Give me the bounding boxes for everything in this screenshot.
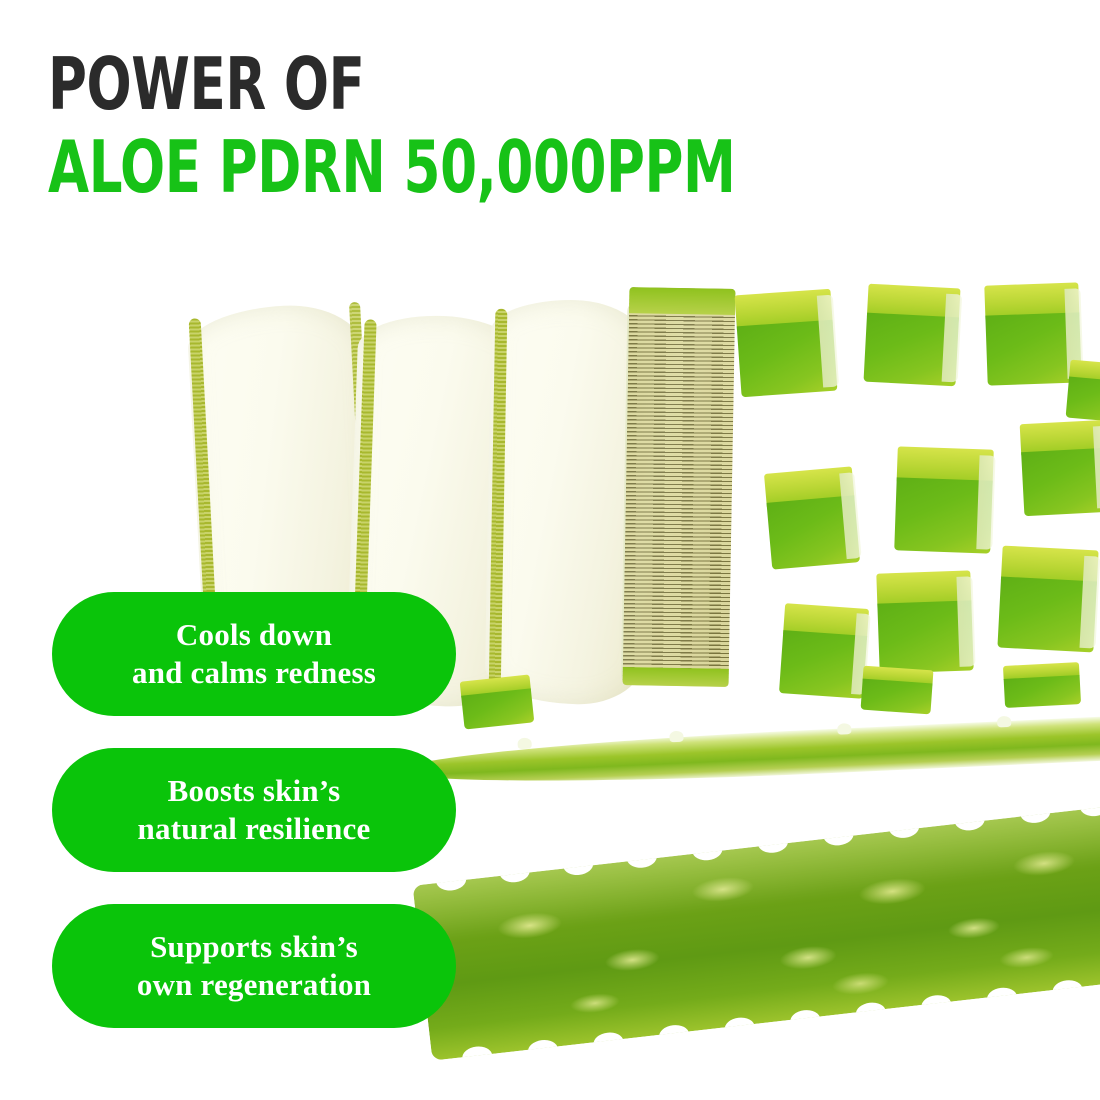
cube-front-face	[1066, 377, 1100, 423]
cube-front-face	[1004, 675, 1081, 708]
feature-pill-line-2: and calms redness	[132, 654, 376, 692]
slab-fiber-stripes	[623, 287, 736, 687]
slab-green-cap	[629, 287, 735, 315]
feature-pill-text: Boosts skin’s natural resilience	[138, 772, 371, 848]
aloe-diced-cube	[764, 466, 860, 569]
leaf-spine	[669, 731, 683, 743]
aloe-diced-cube	[984, 282, 1081, 385]
aloe-diced-cube	[876, 570, 973, 673]
aloe-diced-cube	[779, 603, 869, 699]
aloe-diced-cube	[1020, 420, 1100, 516]
slab-green-cap	[623, 667, 729, 687]
cube-side-face	[956, 576, 975, 667]
feature-pill-text: Cools down and calms redness	[132, 616, 376, 692]
aloe-diced-cube	[894, 446, 994, 553]
feature-pill-line-1: Cools down	[176, 617, 332, 652]
feature-pill-cools-down: Cools down and calms redness	[52, 592, 456, 716]
aloe-diced-cube	[997, 546, 1098, 653]
aloe-diced-cube	[460, 674, 535, 729]
page-title: POWER OF ALOE PDRN 50,000PPM	[48, 50, 1048, 202]
feature-pill-line-1: Boosts skin’s	[168, 773, 341, 808]
cube-front-face	[1021, 447, 1100, 516]
headline-line-1: POWER OF	[48, 50, 868, 119]
leaf-spine	[837, 723, 851, 735]
feature-pill-line-2: natural resilience	[138, 810, 371, 848]
aloe-diced-cube	[1066, 360, 1100, 423]
headline-line-2: ALOE PDRN 50,000PPM	[48, 133, 868, 202]
aloe-thin-leaf	[398, 716, 1100, 793]
feature-pill-boosts-resilience: Boosts skin’s natural resilience	[52, 748, 456, 872]
leaf-spine	[517, 738, 531, 750]
leaf-spine	[997, 716, 1011, 728]
feature-pill-list: Cools down and calms redness Boosts skin…	[52, 592, 456, 1060]
promo-canvas: POWER OF ALOE PDRN 50,000PPM Cools down …	[0, 0, 1100, 1100]
feature-pill-line-2: own regeneration	[137, 966, 371, 1004]
feature-pill-text: Supports skin’s own regeneration	[137, 928, 371, 1004]
feature-pill-line-1: Supports skin’s	[150, 929, 358, 964]
aloe-diced-cube	[735, 289, 838, 397]
aloe-large-leaf	[413, 807, 1100, 1061]
aloe-diced-cube	[861, 666, 934, 715]
aloe-striped-slab	[623, 287, 736, 687]
feature-pill-supports-regeneration: Supports skin’s own regeneration	[52, 904, 456, 1028]
leaf-sheen	[413, 807, 1100, 1061]
aloe-diced-cube	[863, 284, 960, 387]
aloe-diced-cube	[1003, 662, 1081, 708]
cube-side-face	[976, 455, 996, 549]
cube-front-face	[861, 679, 933, 715]
cube-front-face	[461, 689, 534, 730]
cube-side-face	[942, 294, 962, 383]
